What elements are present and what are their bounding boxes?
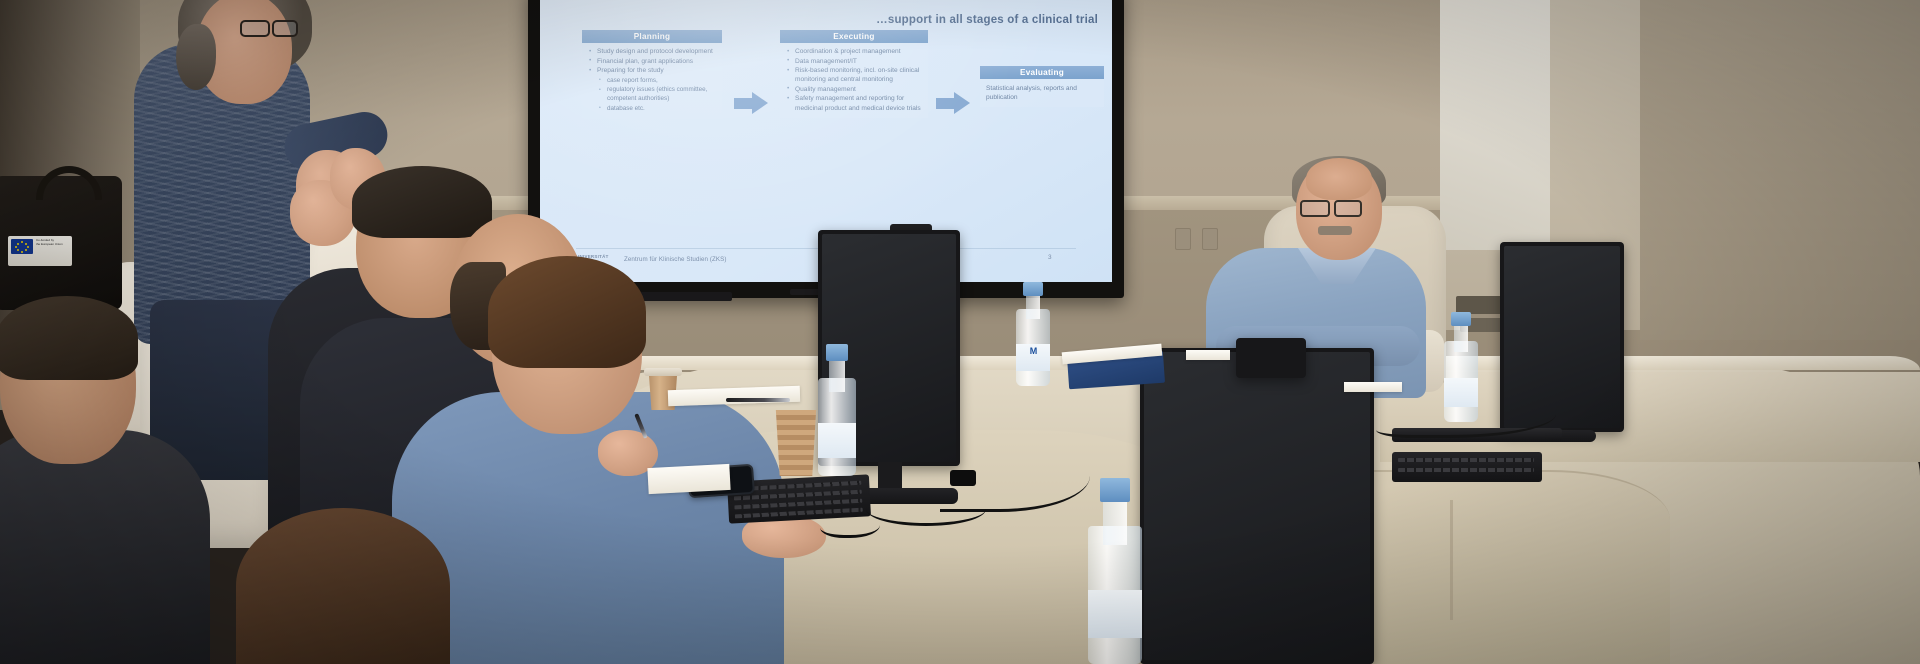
attendee-right-moustache bbox=[1318, 226, 1352, 235]
eu-sticker-line2: the European Union bbox=[36, 243, 70, 247]
glasses-icon bbox=[1300, 200, 1330, 217]
attendee-1-hair bbox=[352, 166, 492, 238]
pen bbox=[726, 398, 790, 402]
presenter-hair-side bbox=[176, 24, 216, 90]
slide-bullet: Quality management bbox=[786, 85, 923, 94]
eu-sticker-text: Co-funded by the European Union bbox=[36, 239, 70, 246]
room-wall-far-right bbox=[1640, 0, 1920, 340]
conference-room-photo: …support in all stages of a clinical tri… bbox=[0, 0, 1920, 664]
cable-connector bbox=[950, 470, 976, 486]
slide-bullet: database etc. bbox=[588, 104, 717, 113]
slide-bullet: Data management/IT bbox=[786, 57, 923, 66]
screen-bezel-bracket bbox=[636, 292, 732, 301]
slide-number: 3 bbox=[1048, 254, 1052, 261]
arrow-right-icon bbox=[936, 92, 970, 114]
paper-cup bbox=[772, 410, 820, 476]
slide-title: …support in all stages of a clinical tri… bbox=[598, 14, 1098, 26]
slide-bullet: regulatory issues (ethics committee, com… bbox=[588, 85, 717, 103]
eu-flag-icon bbox=[11, 239, 33, 254]
slide-box-evaluating-body: Statistical analysis, reports and public… bbox=[980, 79, 1104, 107]
water-bottle-4 bbox=[1088, 478, 1142, 664]
computer-monitor-right bbox=[1140, 348, 1374, 664]
attendee-bl-torso bbox=[0, 430, 210, 664]
slide-footer-text: Zentrum für Klinische Studien (ZKS) bbox=[624, 256, 727, 263]
paper-sheet bbox=[647, 464, 730, 494]
slide-bullet: Safety management and reporting for medi… bbox=[786, 94, 923, 112]
glasses-icon bbox=[1334, 200, 1362, 217]
slide-bullet: Preparing for the study bbox=[588, 66, 717, 75]
attendee-3-torso bbox=[392, 392, 784, 664]
slide-box-planning: Planning Study design and protocol devel… bbox=[582, 30, 722, 119]
coffee-cup-lid bbox=[644, 368, 682, 376]
monitor-right-camera bbox=[1236, 338, 1306, 378]
slide-box-planning-body: Study design and protocol development Fi… bbox=[582, 43, 722, 119]
eu-funding-sticker: Co-funded by the European Union bbox=[8, 236, 72, 266]
glasses-icon bbox=[240, 20, 270, 37]
glasses-icon bbox=[272, 20, 298, 37]
slide-box-executing: Executing Coordination & project managem… bbox=[780, 30, 928, 118]
slide-box-executing-header: Executing bbox=[780, 30, 928, 43]
slide-box-planning-header: Planning bbox=[582, 30, 722, 43]
person-attendee-front-4-hair bbox=[236, 508, 450, 664]
slide-box-evaluating-header: Evaluating bbox=[980, 66, 1104, 79]
slide-bullet: Risk-based monitoring, incl. on-site cli… bbox=[786, 66, 923, 84]
paper-sheet bbox=[1344, 382, 1402, 392]
bottle-label bbox=[818, 423, 856, 457]
slide-bullet: Financial plan, grant applications bbox=[588, 57, 717, 66]
wall-outlet-icon bbox=[1202, 228, 1218, 250]
attendee-bl-hair bbox=[0, 296, 138, 380]
attendee-right-forehead bbox=[1306, 158, 1372, 200]
slide-box-executing-body: Coordination & project management Data m… bbox=[780, 43, 928, 118]
bottle-label bbox=[1088, 590, 1142, 638]
bottle-label: M bbox=[1016, 344, 1050, 371]
water-bottle-3 bbox=[818, 344, 856, 476]
slide-box-evaluating: Evaluating Statistical analysis, reports… bbox=[980, 66, 1104, 107]
slide-bullet: case report forms, bbox=[588, 76, 717, 85]
room-whiteboard bbox=[1440, 0, 1550, 250]
cable bbox=[820, 512, 880, 538]
wall-outlet-icon bbox=[1175, 228, 1191, 250]
arrow-right-icon bbox=[734, 92, 768, 114]
slide-bullet: Study design and protocol development bbox=[588, 47, 717, 56]
slide-bullet: Coordination & project management bbox=[786, 47, 923, 56]
water-bottle-1: M bbox=[1016, 282, 1050, 386]
paper-sheet bbox=[1186, 350, 1230, 360]
keyboard-right bbox=[1392, 452, 1542, 482]
cable bbox=[866, 492, 986, 526]
attendee-3-hair bbox=[488, 256, 646, 368]
table-panel-seam bbox=[1450, 500, 1453, 620]
